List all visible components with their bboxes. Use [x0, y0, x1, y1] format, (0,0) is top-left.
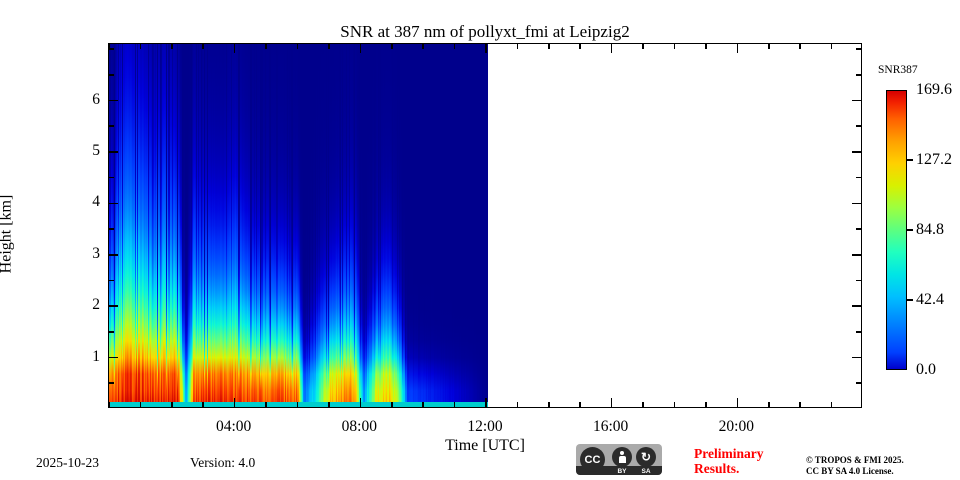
cc-by-label: BY [610, 468, 634, 475]
y-tick-label: 1 [82, 348, 100, 366]
colorbar-tick-label: 169.6 [916, 81, 952, 99]
colorbar-tick-label: 127.2 [916, 151, 952, 169]
y-tick-label: 3 [82, 245, 100, 263]
x-tick-label: 04:00 [216, 418, 251, 436]
footer-version: Version: 4.0 [190, 455, 255, 471]
colorbar-tick-label: 84.8 [916, 221, 944, 239]
cc-sa-label: SA [634, 468, 658, 475]
x-tick-label: 16:00 [593, 418, 628, 436]
preliminary-results-note: Preliminary Results. [694, 446, 790, 476]
footer-date: 2025-10-23 [36, 455, 99, 471]
heatmap-data [109, 44, 488, 407]
colorbar-tick [907, 229, 913, 230]
colorbar-tick-label: 0.0 [916, 361, 936, 379]
y-tick-label: 2 [82, 296, 100, 314]
colorbar[interactable] [886, 90, 907, 370]
x-tick-label: 20:00 [719, 418, 754, 436]
cc-by-person-icon [612, 447, 632, 467]
cc-license-badge-icon[interactable]: CC ↻ BY SA [576, 444, 662, 475]
x-tick-label: 08:00 [342, 418, 377, 436]
cc-sa-arrow-icon: ↻ [636, 447, 656, 467]
page-title: SNR at 387 nm of pollyxt_fmi at Leipzig2 [108, 22, 862, 42]
colorbar-tick [907, 299, 913, 300]
figure-root: SNR at 387 nm of pollyxt_fmi at Leipzig2… [0, 0, 960, 480]
x-tick-label: 12:00 [467, 418, 502, 436]
cc-circle-icon: CC [580, 447, 605, 472]
copyright-line-1: © TROPOS & FMI 2025. [806, 455, 904, 466]
colorbar-title: SNR387 [878, 64, 918, 76]
y-tick-label: 5 [82, 142, 100, 160]
y-tick-label: 4 [82, 193, 100, 211]
colorbar-tick [907, 159, 913, 160]
colorbar-tick-label: 42.4 [916, 291, 944, 309]
copyright-line-2: CC BY SA 4.0 License. [806, 466, 904, 477]
y-tick-label: 6 [82, 91, 100, 109]
copyright-note: © TROPOS & FMI 2025. CC BY SA 4.0 Licens… [806, 455, 904, 477]
plot-area[interactable] [108, 43, 862, 408]
y-axis-title: Height [km] [0, 195, 15, 274]
